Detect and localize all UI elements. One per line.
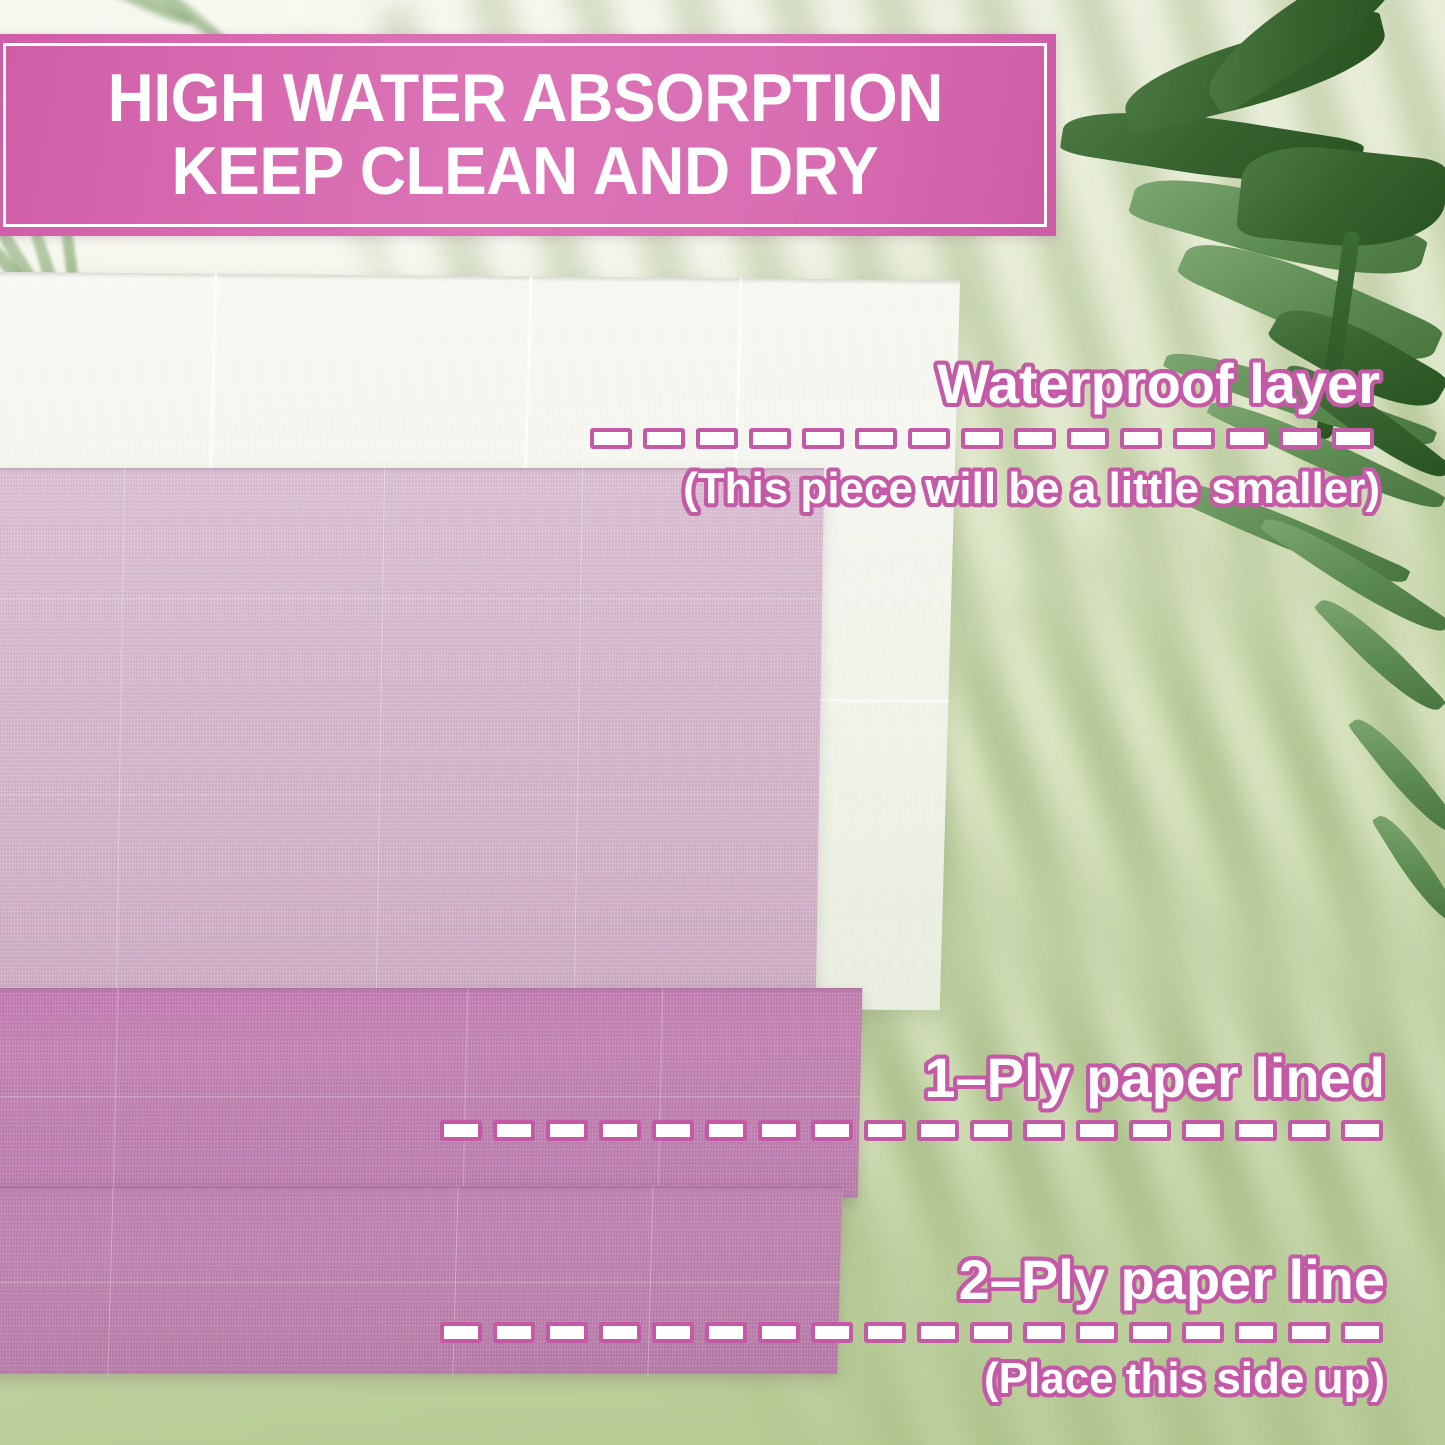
- dash-segment: [802, 428, 844, 449]
- sheet-top-edge: [0, 1186, 843, 1191]
- palm-frond-icon: [1372, 807, 1445, 931]
- dash-segment: [1129, 1120, 1171, 1141]
- dash-segment: [599, 1120, 641, 1141]
- sheet-crease: [452, 1186, 458, 1374]
- dash-segment: [1288, 1120, 1330, 1141]
- sheet-crease: [0, 598, 822, 599]
- dash-segment: [855, 428, 897, 449]
- dash-segment: [493, 1322, 535, 1343]
- dash-segment: [1226, 428, 1268, 449]
- light-pink-tissue-sheet: [0, 468, 824, 996]
- sheet-crease: [574, 468, 583, 996]
- dash-segment: [705, 1322, 747, 1343]
- dash-segment: [696, 428, 738, 449]
- dash-segment: [1023, 1322, 1065, 1343]
- dash-segment: [1129, 1322, 1171, 1343]
- callout-one-ply-paper: 1–Ply paper lined: [540, 1050, 1385, 1141]
- dash-segment: [652, 1322, 694, 1343]
- header-banner-frame: HIGH WATER ABSORPTION KEEP CLEAN AND DRY: [3, 43, 1047, 227]
- dash-segment: [917, 1120, 959, 1141]
- sheet-crease: [376, 468, 385, 996]
- dash-segment: [908, 428, 950, 449]
- dash-segment: [1120, 428, 1162, 449]
- dash-segment: [652, 1120, 694, 1141]
- dash-segment: [1279, 428, 1321, 449]
- callout-title: Waterproof layer: [937, 356, 1380, 412]
- dash-segment: [493, 1120, 535, 1141]
- sheet-crease: [116, 468, 125, 996]
- sheet-crease: [107, 1186, 113, 1374]
- callout-title: 2–Ply paper line: [959, 1252, 1385, 1308]
- dash-segment: [749, 428, 791, 449]
- dash-segment: [1182, 1322, 1224, 1343]
- dash-segment: [1235, 1322, 1277, 1343]
- dash-segment: [1173, 428, 1215, 449]
- dash-segment: [758, 1120, 800, 1141]
- product-infographic: HIGH WATER ABSORPTION KEEP CLEAN AND DRY…: [0, 0, 1445, 1445]
- callout-title: 1–Ply paper lined: [924, 1050, 1385, 1106]
- callout-dashed-pointer: [440, 1322, 1383, 1343]
- dash-segment: [1076, 1322, 1118, 1343]
- dash-segment: [1023, 1120, 1065, 1141]
- dash-segment: [970, 1120, 1012, 1141]
- dash-segment: [811, 1120, 853, 1141]
- dash-segment: [1076, 1120, 1118, 1141]
- banner-headline-line2: KEEP CLEAN AND DRY: [172, 137, 879, 206]
- dash-segment: [1182, 1120, 1224, 1141]
- dash-segment: [1341, 1322, 1383, 1343]
- dash-segment: [1014, 428, 1056, 449]
- banner-headline-line1: HIGH WATER ABSORPTION: [107, 64, 942, 133]
- sheet-crease: [113, 988, 119, 1198]
- callout-dashed-pointer: [440, 1120, 1383, 1141]
- dash-segment: [643, 428, 685, 449]
- dash-segment: [1235, 1120, 1277, 1141]
- dash-segment: [546, 1120, 588, 1141]
- dash-segment: [864, 1322, 906, 1343]
- dash-segment: [917, 1322, 959, 1343]
- callout-dashed-pointer: [590, 428, 1374, 449]
- dash-segment: [546, 1322, 588, 1343]
- sheet-crease: [0, 794, 819, 795]
- dash-segment: [970, 1322, 1012, 1343]
- dash-segment: [705, 1120, 747, 1141]
- dash-segment: [590, 428, 632, 449]
- dash-segment: [1332, 428, 1374, 449]
- callout-two-ply-paper: 2–Ply paper line (Place this side up): [540, 1252, 1385, 1401]
- dash-segment: [758, 1322, 800, 1343]
- dash-segment: [599, 1322, 641, 1343]
- dash-segment: [1067, 428, 1109, 449]
- dash-segment: [811, 1322, 853, 1343]
- dash-segment: [864, 1120, 906, 1141]
- callout-note: (This piece will be a little smaller): [683, 467, 1380, 511]
- dash-segment: [440, 1322, 482, 1343]
- dash-segment: [1341, 1120, 1383, 1141]
- header-banner: HIGH WATER ABSORPTION KEEP CLEAN AND DRY: [0, 34, 1056, 236]
- palm-frond-icon: [1348, 708, 1445, 843]
- dash-segment: [961, 428, 1003, 449]
- monstera-leaf-icon: [1192, 0, 1419, 116]
- dash-segment: [1288, 1322, 1330, 1343]
- sheet-crease: [463, 988, 469, 1198]
- callout-waterproof-layer: Waterproof layer (This piece will be a l…: [540, 356, 1380, 511]
- dash-segment: [440, 1120, 482, 1141]
- callout-note: (Place this side up): [984, 1357, 1385, 1401]
- sheet-top-edge: [0, 988, 862, 993]
